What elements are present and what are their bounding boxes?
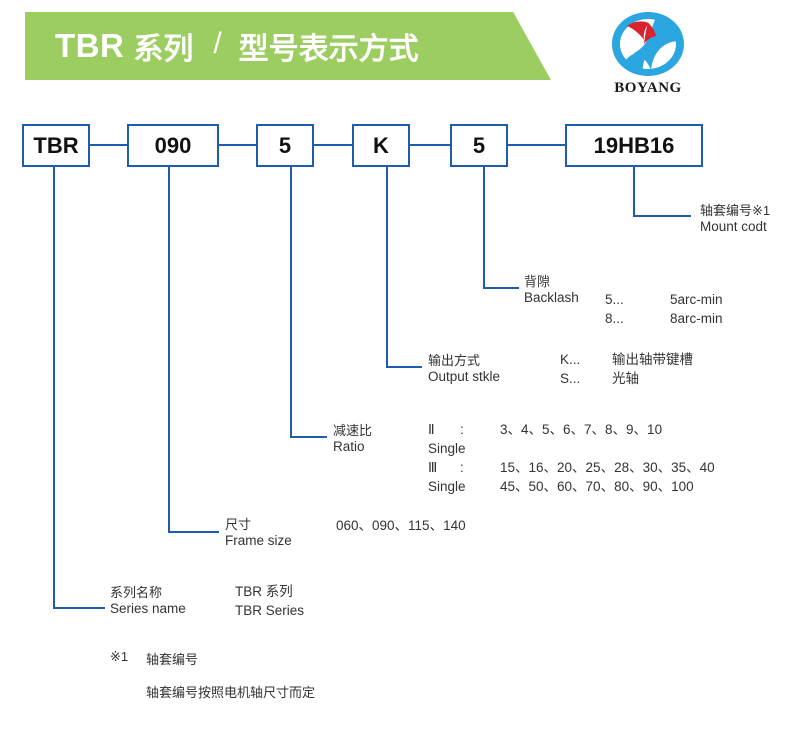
annotation-backlash-en: Backlash [524,290,579,305]
code-box-output-style[interactable]: K [352,124,410,167]
annotation-ratio-en: Ratio [333,439,372,454]
annotation-output-style: 输出方式 Output stkle [428,350,500,384]
footnote-marker: ※1 [110,649,128,665]
ratio-row-stage-2-sub: Single [428,439,715,458]
annotation-series-name: 系列名称 Series name [110,582,186,616]
leader-ratio-vertical [290,167,292,438]
output-style-value-row: S... 光轴 [560,369,693,388]
boyang-logo-icon [604,10,692,80]
annotation-series-name-values: TBR 系列 TBR Series [235,582,304,620]
output-style-value-row: K... 输出轴带键槽 [560,350,693,369]
box-connector-3 [314,144,352,146]
annotation-mount-code-cn: 轴套编号※1 [700,200,770,219]
ratio-values-1-cont: 45、50、60、70、80、90、100 [500,477,694,496]
ratio-colon-0: : [460,420,500,439]
code-box-frame-size[interactable]: 090 [127,124,219,167]
backlash-key-0: 5... [605,290,670,309]
leader-frame-size-vertical [168,167,170,533]
banner-title-group: TBR 系列 / 型号表示方式 [55,12,419,80]
annotation-frame-size-en: Frame size [225,533,292,548]
ratio-row-stage-3-sub: Single 45、50、60、70、80、90、100 [428,477,715,496]
annotation-ratio-cn: 减速比 [333,420,372,439]
leader-frame-size-horizontal [168,531,219,533]
annotation-backlash: 背隙 Backlash [524,271,579,305]
code-box-series[interactable]: TBR [22,124,90,167]
banner-series-label-cn: 系列 [133,24,193,68]
annotation-mount-code: 轴套编号※1 Mount codt [700,200,770,234]
backlash-key-1: 8... [605,309,670,328]
leader-mount-code-horizontal [633,215,691,217]
annotation-series-name-en: Series name [110,601,186,616]
footnote-line-1: 轴套编号 [146,649,198,668]
ratio-stage-0: Ⅱ [428,420,460,439]
leader-series-name-vertical [53,167,55,609]
model-code-diagram-page: TBR 系列 / 型号表示方式 BOYANG TBR 090 5 K 5 19H… [0,0,795,732]
annotation-series-name-cn: 系列名称 [110,582,186,601]
box-connector-5 [508,144,565,146]
annotation-output-style-values: K... 输出轴带键槽 S... 光轴 [560,350,693,388]
leader-backlash-horizontal [483,287,519,289]
box-connector-1 [90,144,127,146]
annotation-frame-size-cn: 尺寸 [225,514,292,533]
annotation-backlash-cn: 背隙 [524,271,579,290]
code-box-mount-code[interactable]: 19HB16 [565,124,703,167]
leader-series-name-horizontal [53,607,105,609]
series-name-value-en: TBR Series [235,601,304,620]
banner-separator: / [213,27,221,61]
ratio-row-stage-2: Ⅱ : 3、4、5、6、7、8、9、10 [428,420,715,439]
code-box-backlash[interactable]: 5 [450,124,508,167]
backlash-desc-1: 8arc-min [670,309,723,328]
output-style-desc-0: 输出轴带键槽 [612,350,693,369]
leader-mount-code-vertical [633,167,635,217]
banner-main-title-cn: 型号表示方式 [239,24,419,68]
ratio-row-stage-3: Ⅲ : 15、16、20、25、28、30、35、40 [428,458,715,477]
annotation-ratio: 减速比 Ratio [333,420,372,454]
output-style-key-0: K... [560,350,612,369]
leader-output-style-horizontal [386,366,422,368]
series-name-value-cn: TBR 系列 [235,582,304,601]
annotation-mount-code-en: Mount codt [700,219,770,234]
annotation-output-style-en: Output stkle [428,369,500,384]
brand-logo: BOYANG [596,10,700,104]
header-banner: TBR 系列 / 型号表示方式 [25,12,565,80]
leader-ratio-horizontal [290,436,327,438]
ratio-stage-1: Ⅲ [428,458,460,477]
annotation-backlash-values: 5... 5arc-min 8... 8arc-min [605,290,723,328]
leader-backlash-vertical [483,167,485,289]
annotation-ratio-values: Ⅱ : 3、4、5、6、7、8、9、10 Single Ⅲ : 15、16、20… [428,420,715,496]
annotation-frame-size-values: 060、090、115、140 [336,516,466,535]
backlash-value-row: 8... 8arc-min [605,309,723,328]
ratio-stage-sub-1: Single [428,477,500,496]
ratio-stage-sub-0: Single [428,439,466,458]
banner-series-code: TBR [55,27,124,65]
output-style-desc-1: 光轴 [612,369,639,388]
code-box-ratio[interactable]: 5 [256,124,314,167]
box-connector-2 [219,144,256,146]
logo-brand-name: BOYANG [596,80,700,97]
annotation-frame-size: 尺寸 Frame size [225,514,292,548]
output-style-key-1: S... [560,369,612,388]
footnote-line-2: 轴套编号按照电机轴尺寸而定 [146,682,315,701]
ratio-values-0: 3、4、5、6、7、8、9、10 [500,420,662,439]
backlash-value-row: 5... 5arc-min [605,290,723,309]
leader-output-style-vertical [386,167,388,368]
backlash-desc-0: 5arc-min [670,290,723,309]
annotation-output-style-cn: 输出方式 [428,350,500,369]
ratio-values-1: 15、16、20、25、28、30、35、40 [500,458,715,477]
ratio-colon-1: : [460,458,500,477]
box-connector-4 [410,144,450,146]
